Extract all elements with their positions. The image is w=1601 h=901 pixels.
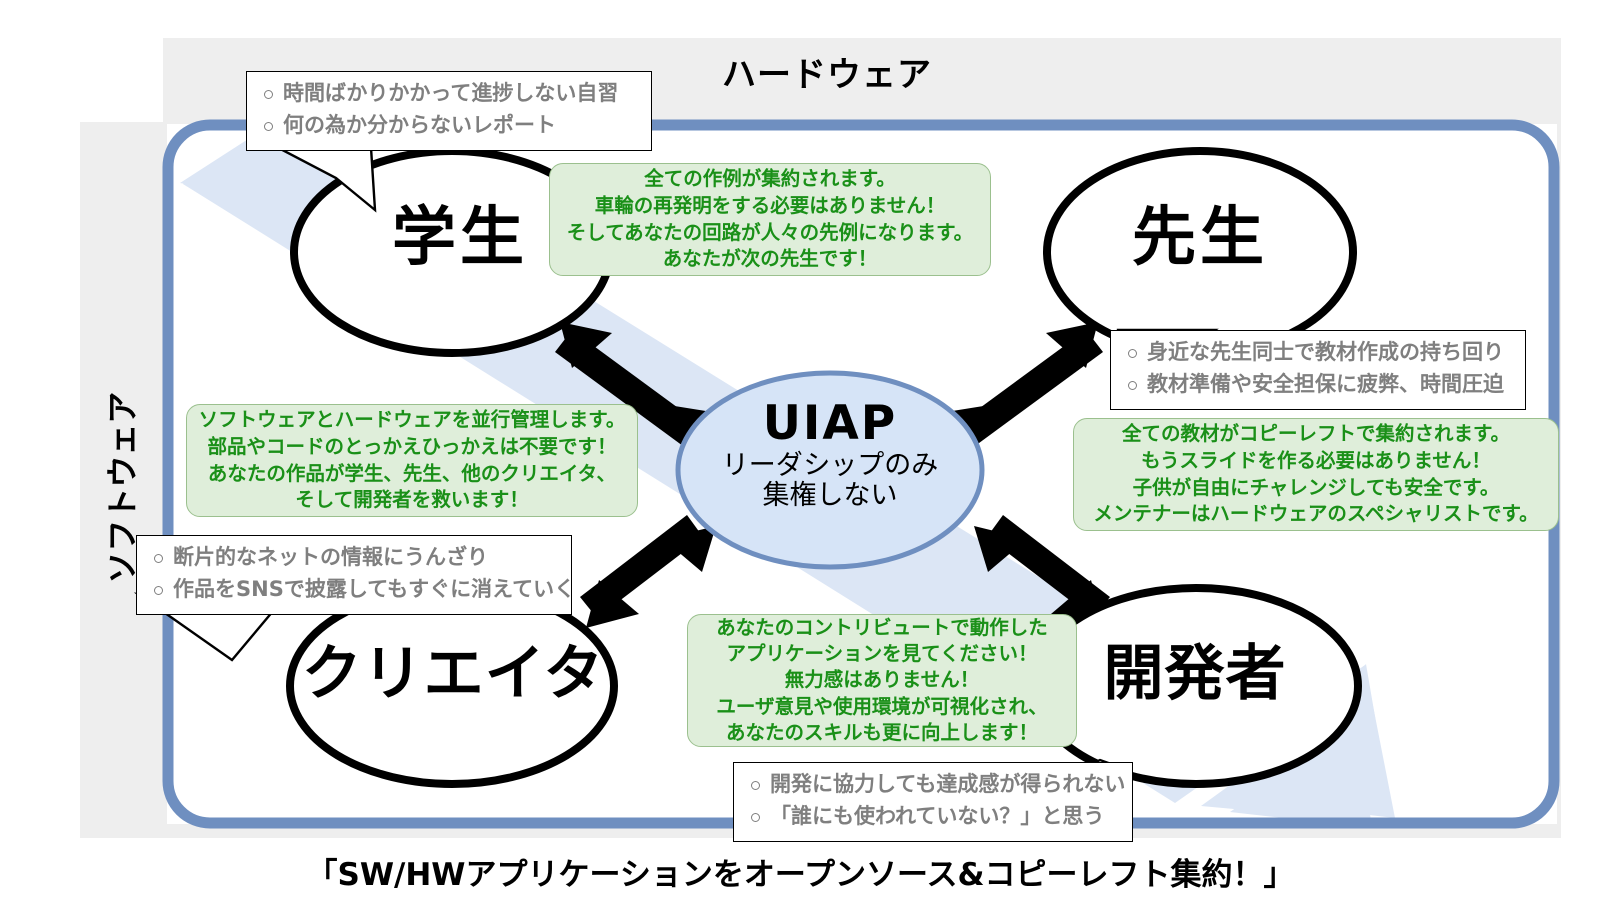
benefit-line: そして開発者を救います！ [295, 488, 528, 511]
problem-list: 身近な先生同士で教材作成の持ち回り 教材準備や安全担保に疲弊、時間圧迫 [1125, 337, 1511, 401]
list-item: 断片的なネットの情報にうんざり [151, 542, 557, 574]
list-item: 教材準備や安全担保に疲弊、時間圧迫 [1125, 369, 1511, 401]
uiap-subtitle-1: リーダシップのみ [685, 451, 975, 481]
benefit-line: 車輪の再発明をする必要はありません！ [595, 194, 945, 217]
benefit-text: ソフトウェアとハードウェアを並行管理します。 部品やコードのとっかえひっかえは不… [199, 407, 626, 513]
list-item: 開発に協力しても達成感が得られない [748, 769, 1118, 801]
problem-callout-developer: 開発に協力しても達成感が得られない 「誰にも使われていない？」と思う [733, 762, 1133, 842]
node-label-creator: クリエイタ [288, 644, 618, 704]
uiap-center-text: UIAP リーダシップのみ 集権しない [685, 398, 975, 511]
problem-callout-teacher: 身近な先生同士で教材作成の持ち回り 教材準備や安全担保に疲弊、時間圧迫 [1110, 330, 1526, 410]
node-label-developer: 開発者 [1030, 644, 1360, 704]
problem-list: 時間ばかりかかって進捗しない自習 何の為か分からないレポート [261, 78, 637, 142]
benefit-box-developer: あなたのコントリビュートで動作した アプリケーションを見てください！ 無力感はあ… [687, 614, 1077, 747]
benefit-line: あなたのスキルも更に向上します！ [726, 721, 1038, 744]
list-item: 時間ばかりかかって進捗しない自習 [261, 78, 637, 110]
problem-callout-creator: 断片的なネットの情報にうんざり 作品をSNSで披露してもすぐに消えていく [136, 535, 572, 615]
benefit-line: そしてあなたの回路が人々の先例になります。 [567, 221, 973, 244]
problem-list: 断片的なネットの情報にうんざり 作品をSNSで披露してもすぐに消えていく [151, 542, 557, 606]
benefit-line: ソフトウェアとハードウェアを並行管理します。 [199, 408, 626, 431]
benefit-box-teacher: 全ての教材がコピーレフトで集約されます。 もうスライドを作る必要はありません！ … [1073, 418, 1559, 531]
benefit-text: あなたのコントリビュートで動作した アプリケーションを見てください！ 無力感はあ… [716, 615, 1048, 746]
benefit-line: あなたが次の先生です！ [663, 247, 878, 270]
uiap-subtitle-2: 集権しない [685, 481, 975, 511]
benefit-line: 部品やコードのとっかえひっかえは不要です！ [208, 435, 617, 458]
list-item: 「誰にも使われていない？」と思う [748, 801, 1118, 833]
benefit-box-student: 全ての作例が集約されます。 車輪の再発明をする必要はありません！ そしてあなたの… [549, 163, 991, 276]
benefit-line: 全ての教材がコピーレフトで集約されます。 [1122, 422, 1510, 445]
benefit-text: 全ての作例が集約されます。 車輪の再発明をする必要はありません！ そしてあなたの… [567, 166, 973, 272]
node-label-teacher: 先生 [1040, 206, 1360, 270]
benefit-line: あなたのコントリビュートで動作した [716, 616, 1048, 639]
benefit-line: メンテナーはハードウェアのスペシャリストです。 [1093, 502, 1538, 525]
problem-list: 開発に協力しても達成感が得られない 「誰にも使われていない？」と思う [748, 769, 1118, 833]
benefit-line: 無力感はありません！ [785, 668, 979, 691]
list-item: 何の為か分からないレポート [261, 110, 637, 142]
benefit-line: あなたの作品が学生、先生、他のクリエイタ、 [208, 462, 616, 485]
benefit-line: ユーザ意見や使用環境が可視化され、 [716, 695, 1047, 718]
bottom-caption: 「SW/HWアプリケーションをオープンソース&コピーレフト集約！」 [0, 849, 1601, 894]
hardware-label: ハードウェア [662, 57, 992, 94]
problem-callout-student: 時間ばかりかかって進捗しない自習 何の為か分からないレポート [246, 71, 652, 151]
uiap-title: UIAP [685, 398, 975, 451]
benefit-text: 全ての教材がコピーレフトで集約されます。 もうスライドを作る必要はありません！ … [1093, 421, 1538, 527]
benefit-box-creator: ソフトウェアとハードウェアを並行管理します。 部品やコードのとっかえひっかえは不… [186, 404, 638, 517]
benefit-line: 子供が自由にチャレンジしても安全です。 [1133, 476, 1500, 499]
benefit-line: アプリケーションを見てください！ [726, 642, 1037, 665]
list-item: 身近な先生同士で教材作成の持ち回り [1125, 337, 1511, 369]
list-item: 作品をSNSで披露してもすぐに消えていく [151, 574, 557, 606]
benefit-line: 全ての作例が集約されます。 [644, 167, 896, 190]
benefit-line: もうスライドを作る必要はありません！ [1141, 449, 1491, 472]
diagram-canvas: ハードウェア ソフトウェア 学生 先生 クリエイタ 開発者 UIAP リーダシッ… [0, 0, 1601, 901]
